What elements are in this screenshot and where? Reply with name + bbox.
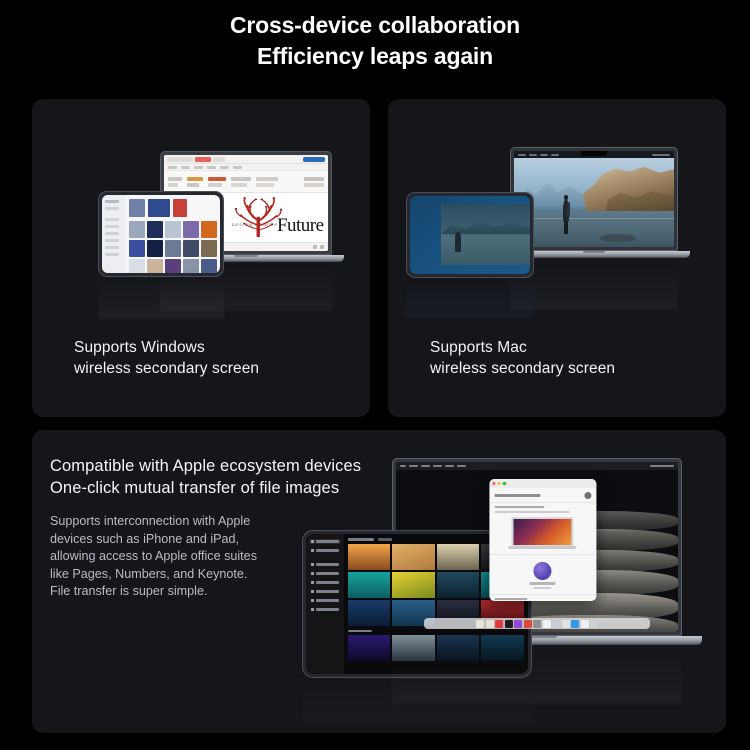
gallery-cell[interactable] [481, 635, 524, 661]
menubar-item[interactable] [433, 465, 442, 467]
menubar-item[interactable] [457, 465, 466, 467]
ppt-ribbon-group[interactable] [231, 177, 251, 187]
ppt-titlebar [164, 155, 328, 164]
macbook [510, 147, 678, 259]
apple-body-line1: Supports interconnection with Apple [50, 513, 380, 531]
hiker-figure-icon [562, 195, 570, 232]
ppt-tab[interactable] [168, 166, 177, 169]
dialog-header [489, 488, 596, 502]
gallery-cell[interactable] [392, 635, 435, 661]
airdrop-device-avatar[interactable] [534, 562, 552, 580]
gallery-cell[interactable] [129, 259, 145, 273]
ppt-tab[interactable] [194, 166, 203, 169]
device-reflection [510, 265, 678, 309]
apple-heading-line1: Compatible with Apple ecosystem devices [50, 455, 380, 477]
ppt-status-icon[interactable] [320, 245, 324, 249]
ppt-ribbon-group[interactable] [256, 177, 278, 187]
ppt-ribbon-group[interactable] [168, 177, 182, 187]
sidebar-item-label [316, 608, 339, 610]
menubar-status-items[interactable] [652, 154, 670, 156]
gallery-featured-strip[interactable] [129, 199, 217, 217]
ppt-tab[interactable] [233, 166, 242, 169]
menubar-item[interactable] [518, 154, 526, 156]
card-supports-mac[interactable]: Supports Mac wireless secondary screen [388, 99, 726, 417]
gallery-cell[interactable] [183, 240, 199, 257]
dock-icon-tv[interactable] [505, 620, 513, 628]
macbook-notch [581, 151, 607, 156]
gallery-cell[interactable] [147, 259, 163, 273]
gallery-cell[interactable] [201, 221, 217, 238]
gallery-cell[interactable] [129, 221, 145, 238]
ppt-ribbon-icon[interactable] [168, 183, 178, 187]
ppt-ribbon-icon[interactable] [256, 177, 278, 181]
airdrop-share-dialog[interactable] [489, 479, 596, 601]
apple-heading: Compatible with Apple ecosystem devices … [50, 455, 380, 499]
ppt-account-button[interactable] [303, 157, 325, 162]
dock-icon-podcasts[interactable] [514, 620, 522, 628]
gallery-cell[interactable] [392, 572, 435, 598]
sidebar-item[interactable] [105, 253, 119, 256]
dialog-text-line [494, 506, 545, 508]
page-title-line2: Efficiency leaps again [0, 41, 750, 72]
macos-menubar[interactable] [396, 462, 678, 470]
dock-icon-finder[interactable] [476, 620, 484, 628]
menubar-item[interactable] [445, 465, 454, 467]
caption-supports-windows: Supports Windows wireless secondary scre… [74, 337, 259, 379]
ppt-titlebar-chip [167, 157, 193, 162]
gallery-main[interactable] [126, 195, 220, 273]
ppt-ribbon-icon[interactable] [187, 183, 199, 187]
dock-icon-notes[interactable] [543, 620, 551, 628]
photo-gallery-light[interactable] [102, 195, 220, 273]
tablet-screen [410, 196, 530, 274]
featured-thumb[interactable] [173, 199, 187, 217]
ppt-ribbon[interactable] [164, 171, 328, 193]
water-layer [514, 211, 674, 247]
dock-icon-settings[interactable] [533, 620, 541, 628]
dialog-text-line [494, 598, 527, 600]
menubar-item[interactable] [400, 465, 406, 467]
ppt-titlebar-chip [213, 157, 225, 162]
hiker-legs [564, 222, 568, 234]
caption-line1: Supports Mac [430, 337, 615, 358]
clock-icon [311, 608, 314, 611]
close-icon[interactable] [492, 482, 495, 485]
apple-text-block: Compatible with Apple ecosystem devices … [50, 455, 380, 601]
apple-body-line2: devices such as iPhone and iPad, [50, 531, 380, 549]
ppt-tab[interactable] [181, 166, 190, 169]
gallery-cell[interactable] [183, 221, 199, 238]
apple-body-line4: like Pages, Numbers, and Keynote. [50, 566, 380, 584]
device-reflection [302, 680, 532, 724]
macos-photo-viewer [514, 151, 674, 247]
mirrored-photo [441, 204, 530, 265]
ppt-ribbon-group[interactable] [304, 177, 324, 187]
dialog-titlebar[interactable] [489, 479, 596, 488]
ppt-titlebar-chip [195, 157, 211, 162]
ppt-ribbon-icon[interactable] [304, 177, 324, 181]
tablet-frame [98, 191, 224, 277]
card-apple-ecosystem[interactable]: Compatible with Apple ecosystem devices … [32, 430, 726, 733]
maximize-icon[interactable] [503, 482, 506, 485]
gallery-cell[interactable] [348, 635, 391, 661]
coral-artwork-icon [234, 197, 283, 237]
gallery-cell[interactable] [147, 240, 163, 257]
gallery-cell[interactable] [165, 259, 181, 273]
dock-icon-trash[interactable] [590, 620, 598, 628]
menubar-item[interactable] [421, 465, 430, 467]
dock-icon-music[interactable] [495, 620, 503, 628]
apple-heading-line2: One-click mutual transfer of file images [50, 477, 380, 499]
minimize-icon[interactable] [497, 482, 500, 485]
tablet-frame [406, 192, 534, 278]
mirrored-ridge [441, 215, 530, 234]
gallery-section-label [348, 630, 372, 633]
ppt-ribbon-icon[interactable] [208, 183, 222, 187]
dock-icon-folder[interactable] [486, 620, 494, 628]
page-title-line1: Cross-device collaboration [0, 10, 750, 41]
ppt-tab[interactable] [220, 166, 229, 169]
dialog-section-target[interactable] [489, 554, 596, 594]
ppt-status-icon[interactable] [313, 245, 317, 249]
tablet-screen [102, 195, 220, 273]
mirrored-screen [410, 196, 530, 274]
ppt-ribbon-icon[interactable] [187, 177, 203, 181]
ppt-ribbon-group[interactable] [187, 177, 203, 187]
dialog-text-line [494, 511, 570, 513]
sidebar-item[interactable] [105, 246, 119, 249]
gallery-cell[interactable] [348, 600, 391, 626]
sidebar-item[interactable] [105, 225, 119, 228]
gallery-grid-secondary[interactable] [348, 635, 524, 661]
featured-thumb[interactable] [148, 199, 170, 217]
sidebar-item-recents[interactable] [309, 607, 341, 612]
macbook-lid [510, 147, 678, 251]
airdrop-device-name [530, 582, 556, 584]
ppt-ribbon-icon[interactable] [208, 177, 226, 181]
dialog-section-footer [489, 594, 596, 601]
sidebar-item[interactable] [105, 218, 119, 221]
caption-line1: Supports Windows [74, 337, 259, 358]
promo-page: Cross-device collaboration Efficiency le… [0, 0, 750, 750]
menubar-item[interactable] [551, 154, 559, 156]
ppt-tab[interactable] [207, 166, 216, 169]
sidebar-item[interactable] [105, 232, 119, 235]
gallery-grid[interactable] [129, 221, 217, 273]
sidebar-item[interactable] [105, 239, 119, 242]
ppt-ribbon-icon[interactable] [231, 177, 251, 181]
gallery-cell[interactable] [165, 221, 181, 238]
apple-body-line3: allowing access to Apple office suites [50, 548, 380, 566]
foreground-rock [600, 234, 635, 242]
ppt-ribbon-icon[interactable] [168, 177, 182, 181]
gallery-cell[interactable] [392, 544, 435, 570]
airdrop-device-status [534, 587, 552, 589]
menubar-item[interactable] [540, 154, 548, 156]
caption-supports-mac: Supports Mac wireless secondary screen [430, 337, 615, 379]
gallery-cell[interactable] [147, 221, 163, 238]
landscape-photo [514, 158, 674, 247]
ppt-ribbon-icon[interactable] [256, 183, 274, 187]
gallery-cell[interactable] [129, 240, 145, 257]
gallery-cell[interactable] [437, 635, 480, 661]
menubar-item[interactable] [529, 154, 537, 156]
menubar-item[interactable] [409, 465, 418, 467]
hiker-backpack [567, 202, 570, 217]
card-supports-windows[interactable]: nts Future DESIGN CONCEPT [32, 99, 370, 417]
gallery-cell[interactable] [437, 544, 480, 570]
dock-icon-keynote[interactable] [552, 620, 560, 628]
featured-thumb[interactable] [129, 199, 145, 217]
device-reflection [406, 280, 534, 318]
ppt-ribbon-tabs[interactable] [164, 164, 328, 171]
sidebar-item[interactable] [105, 200, 119, 203]
mirrored-hiker-icon [455, 232, 460, 253]
gallery-cell[interactable] [201, 240, 217, 257]
gear-icon[interactable] [584, 492, 591, 499]
file-preview-thumbnail[interactable] [512, 517, 574, 547]
macos-dock[interactable] [424, 618, 650, 629]
gallery-cell[interactable] [437, 572, 480, 598]
gallery-sidebar[interactable] [102, 195, 126, 273]
dock-icon-numbers[interactable] [581, 620, 589, 628]
device-reflection [98, 279, 224, 319]
mac-tablet [406, 192, 534, 278]
caption-line2: wireless secondary screen [74, 358, 259, 379]
ppt-ribbon-icon[interactable] [231, 183, 247, 187]
gallery-cell[interactable] [183, 259, 199, 273]
macbook-screen [514, 151, 674, 247]
dialog-section-source [489, 502, 596, 554]
gallery-cell[interactable] [165, 240, 181, 257]
page-header: Cross-device collaboration Efficiency le… [0, 0, 750, 72]
menubar-status-items[interactable] [650, 465, 674, 467]
gallery-cell[interactable] [201, 259, 217, 273]
caption-line2: wireless secondary screen [430, 358, 615, 379]
ppt-ribbon-icon[interactable] [304, 183, 324, 187]
sidebar-item[interactable] [105, 207, 119, 210]
ppt-ribbon-group[interactable] [208, 177, 226, 187]
apple-body-line5: File transfer is super simple. [50, 583, 380, 601]
dock-icon-news[interactable] [524, 620, 532, 628]
apple-body: Supports interconnection with Apple devi… [50, 513, 380, 601]
dock-icon-appstore[interactable] [571, 620, 579, 628]
dialog-title [494, 494, 540, 497]
windows-tablet [98, 191, 224, 277]
dock-icon-pages[interactable] [562, 620, 570, 628]
